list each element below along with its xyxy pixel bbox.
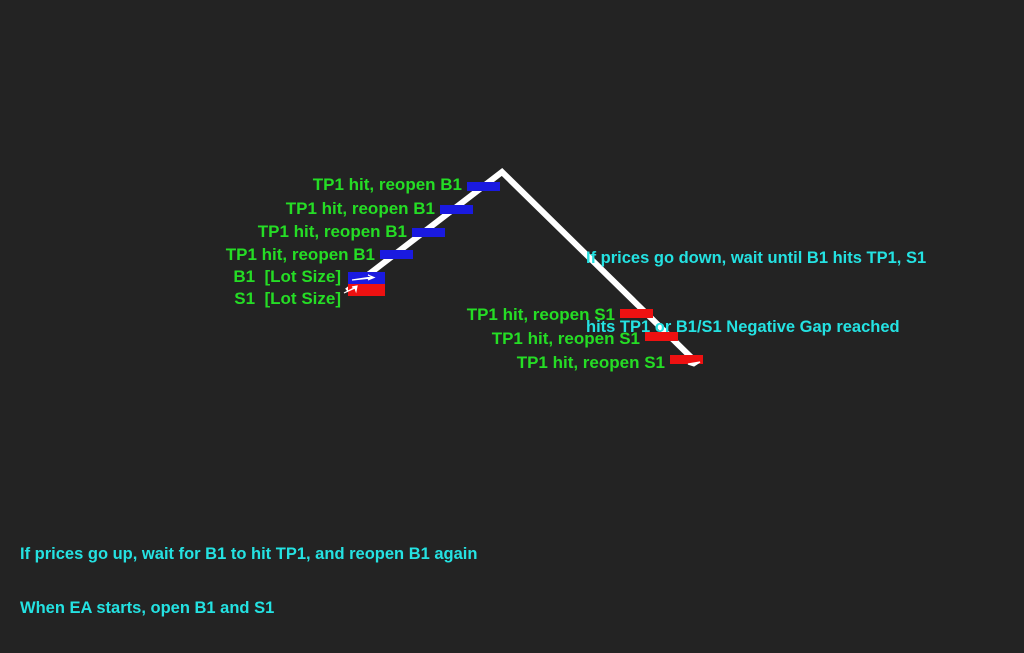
buy-order-label-2: TP1 hit, reopen B1 [258,223,407,240]
buy-marker-3 [440,205,473,214]
buy-order-label-1: TP1 hit, reopen B1 [286,200,435,217]
note-prices-go-down-line1: If prices go down, wait until B1 hits TP… [586,247,926,270]
note-prices-go-up: If prices go up, wait for B1 to hit TP1,… [20,509,477,653]
buy-marker-1 [380,250,413,259]
diagram-canvas: TP1 hit, reopen B1TP1 hit, reopen B1TP1 … [0,0,1024,574]
buy-order-label-5: S1 [Lot Size] [234,290,341,307]
sell-marker-0 [348,284,385,296]
note-prices-go-down-line2: hits TP1 or B1/S1 Negative Gap reached [586,316,926,339]
note-prices-go-up-line1: If prices go up, wait for B1 to hit TP1,… [20,545,477,563]
buy-marker-4 [467,182,500,191]
buy-marker-2 [412,228,445,237]
buy-order-label-3: TP1 hit, reopen B1 [226,246,375,263]
buy-order-label-0: TP1 hit, reopen B1 [313,176,462,193]
buy-order-label-4: B1 [Lot Size] [233,268,341,285]
note-prices-go-down: If prices go down, wait until B1 hits TP… [586,201,926,385]
note-ea-start-line2: When EA starts, open B1 and S1 [20,599,477,617]
